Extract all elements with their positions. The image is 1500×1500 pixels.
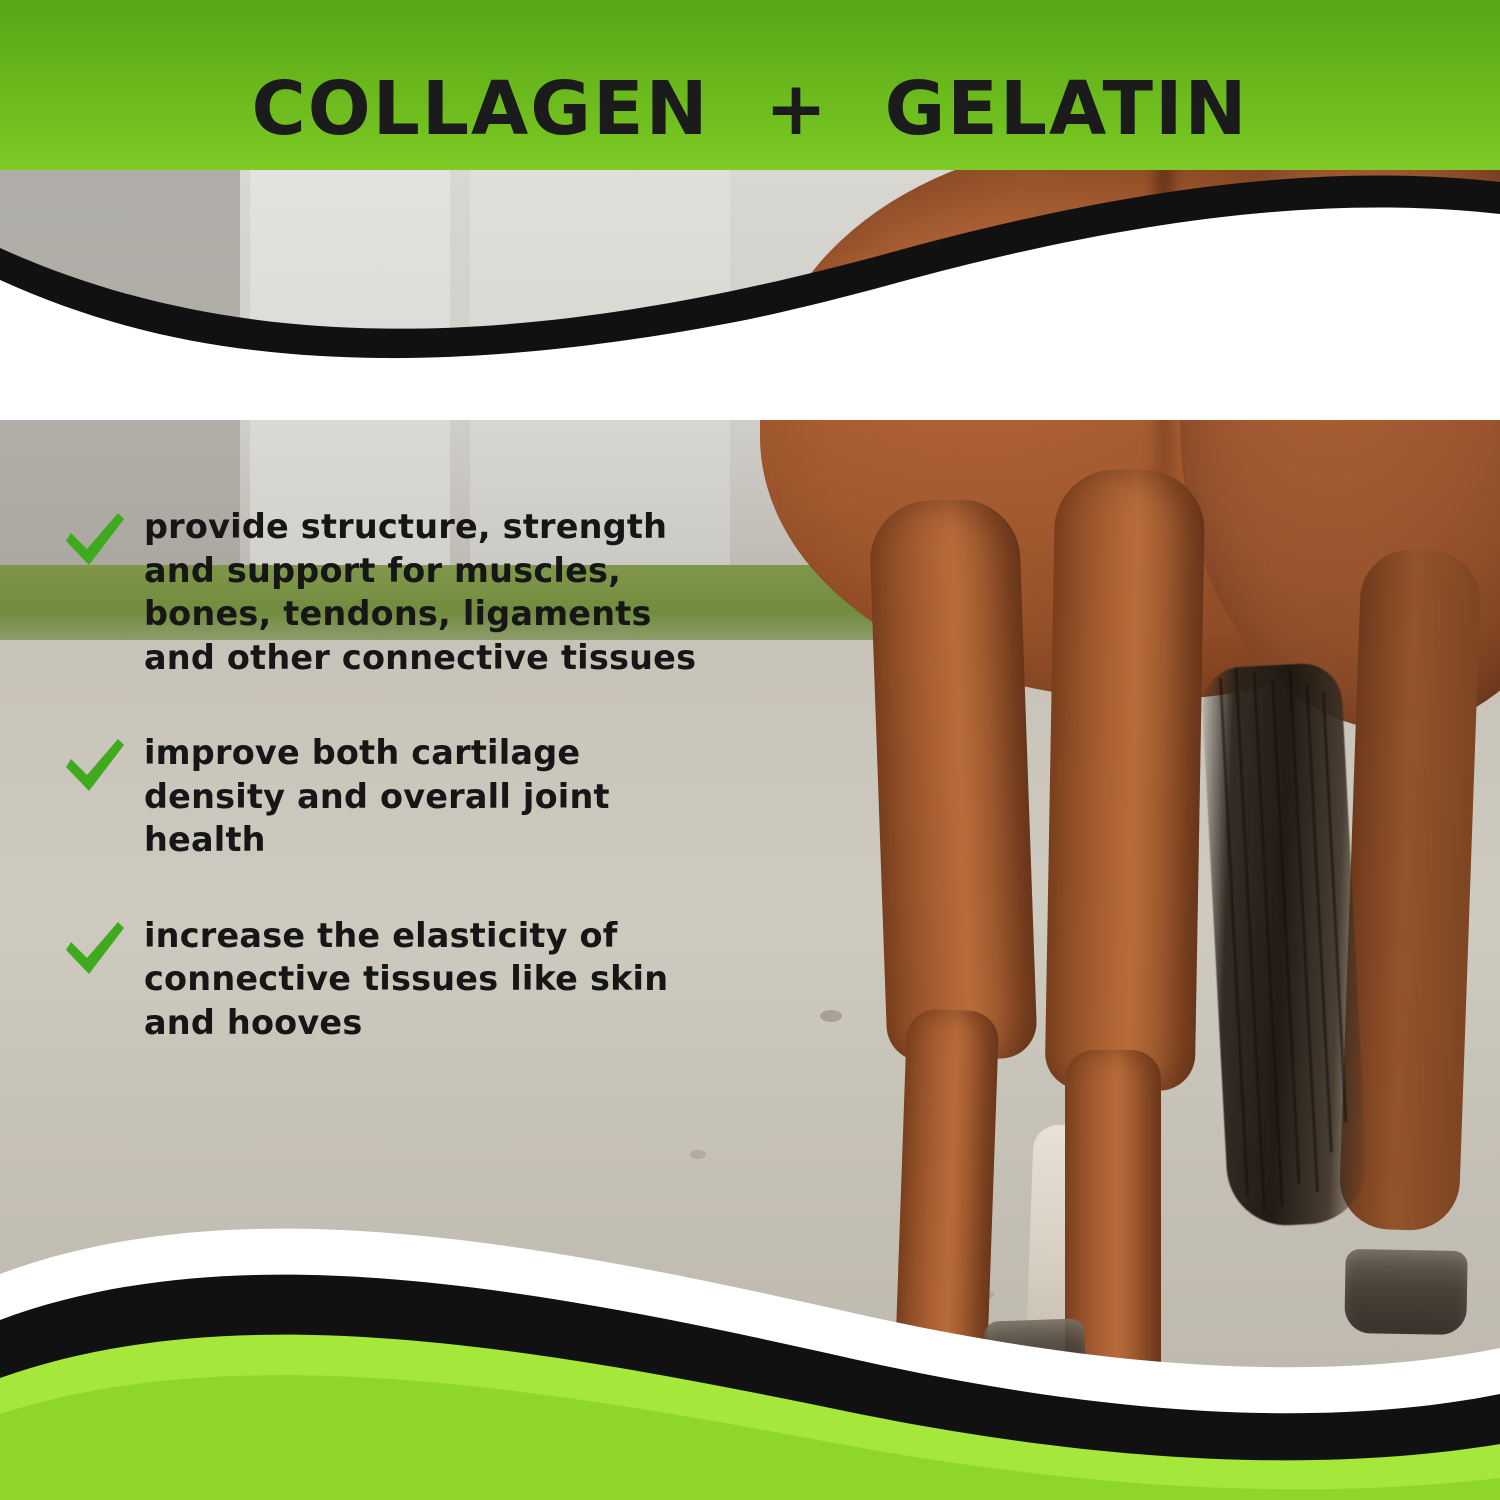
- check-icon: [62, 737, 128, 797]
- horse-tail: [1200, 662, 1369, 1229]
- horse-hoof-far: [1344, 1249, 1467, 1335]
- horse-hoof-rear: [984, 1318, 1086, 1385]
- benefit-text-2: improve both cartilage density and overa…: [144, 731, 610, 862]
- horse-leg-left-upper: [868, 498, 1037, 1063]
- list-item: provide structure, strength and support …: [62, 505, 762, 679]
- list-item: increase the elasticity of connective ti…: [62, 914, 762, 1045]
- list-item: improve both cartilage density and overa…: [62, 731, 762, 862]
- benefit-text-3: increase the elasticity of connective ti…: [144, 914, 668, 1045]
- check-icon: [62, 920, 128, 980]
- horse-leg-right-upper: [1045, 469, 1206, 1092]
- page-title: COLLAGEN + GELATIN: [0, 72, 1500, 146]
- benefits-list: provide structure, strength and support …: [62, 505, 762, 1044]
- check-icon: [62, 511, 128, 571]
- horse-leg-left-lower: [893, 1009, 1000, 1430]
- benefit-text-1: provide structure, strength and support …: [144, 505, 696, 679]
- product-infographic-poster: COLLAGEN + GELATIN provide structure, st…: [0, 0, 1500, 1500]
